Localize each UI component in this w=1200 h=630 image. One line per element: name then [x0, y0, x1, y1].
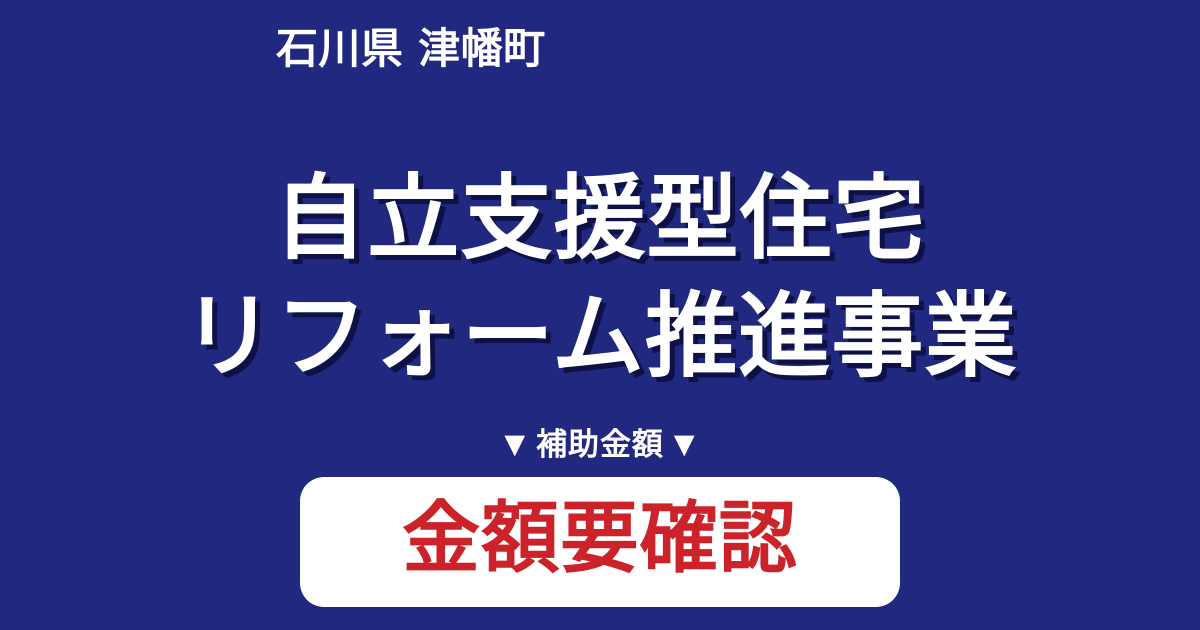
- program-title: 自立支援型住宅 リフォーム推進事業: [0, 160, 1200, 396]
- amount-plate: 金額要確認: [300, 477, 900, 607]
- region-heading: 石川県 津幡町: [276, 26, 546, 71]
- program-title-line-1: 自立支援型住宅: [0, 160, 1200, 278]
- program-title-line-2: リフォーム推進事業: [0, 278, 1200, 396]
- triangle-down-right-icon: ▼: [674, 425, 696, 465]
- triangle-down-left-icon: ▼: [504, 425, 526, 465]
- amount-label: ▼補助金額▼: [0, 425, 1200, 465]
- subsidy-banner: 石川県 津幡町 自立支援型住宅 リフォーム推進事業 ▼補助金額▼ 金額要確認: [0, 0, 1200, 630]
- amount-label-text: 補助金額: [536, 427, 664, 463]
- amount-value: 金額要確認: [402, 495, 798, 583]
